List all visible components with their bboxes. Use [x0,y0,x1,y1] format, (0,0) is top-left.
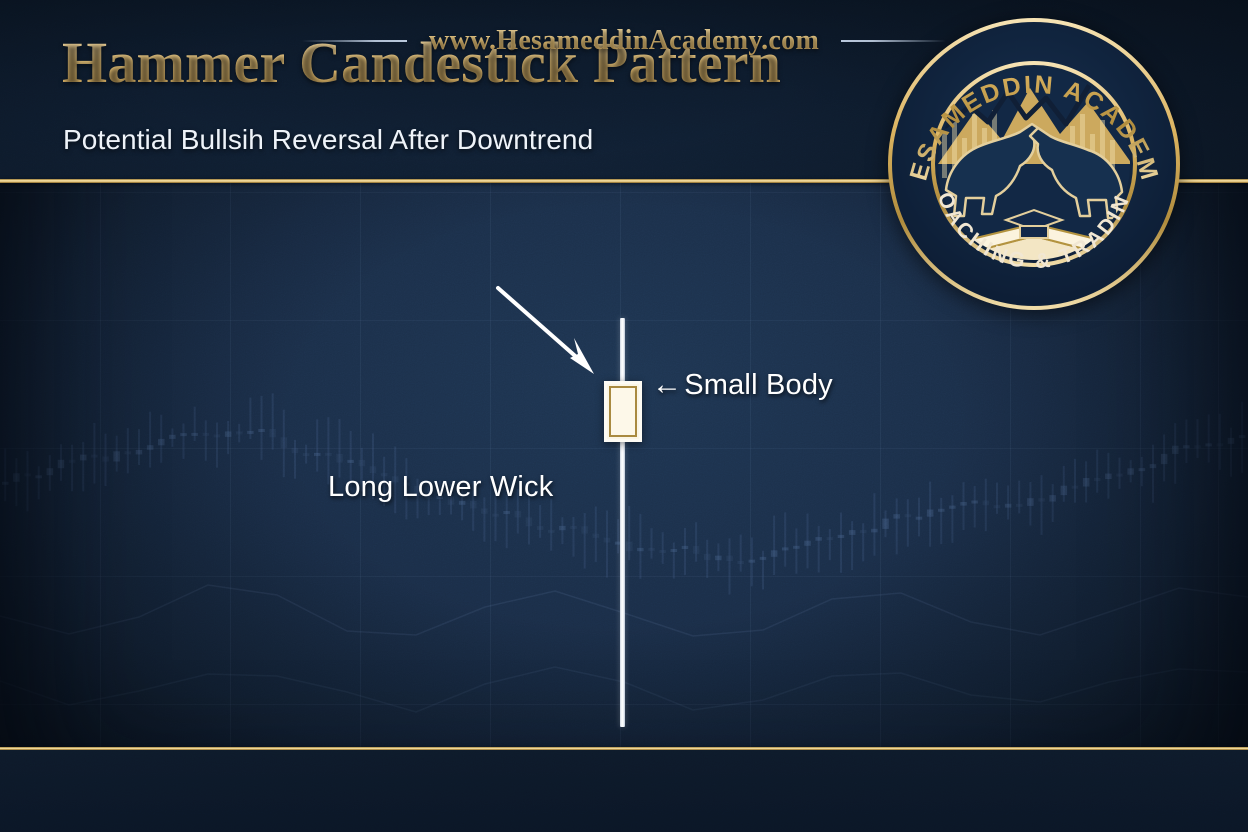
left-arrow-icon: ← [652,370,682,400]
hammer-candle-body [604,381,642,442]
small-body-annotation: ← Small Body [652,369,833,402]
page-subtitle: Potential Bullsih Reversal After Downtre… [63,124,593,156]
footer-band [0,750,1248,832]
footer-noise-texture [0,750,1248,832]
long-lower-wick-label: Long Lower Wick [328,471,553,504]
infographic-canvas: Hammer Candestick Pattern Potential Bull… [0,0,1248,832]
hammer-upper-wick [620,318,625,386]
footer-rule-left [302,40,407,42]
hammer-lower-wick [620,436,625,727]
hammer-candle-body-inner [609,386,637,437]
footer-content: www.HesameddinAcademy.com [0,0,1248,82]
footer-website[interactable]: www.HesameddinAcademy.com [429,25,819,57]
footer-rule-right [841,40,946,42]
small-body-label: Small Body [684,369,833,402]
